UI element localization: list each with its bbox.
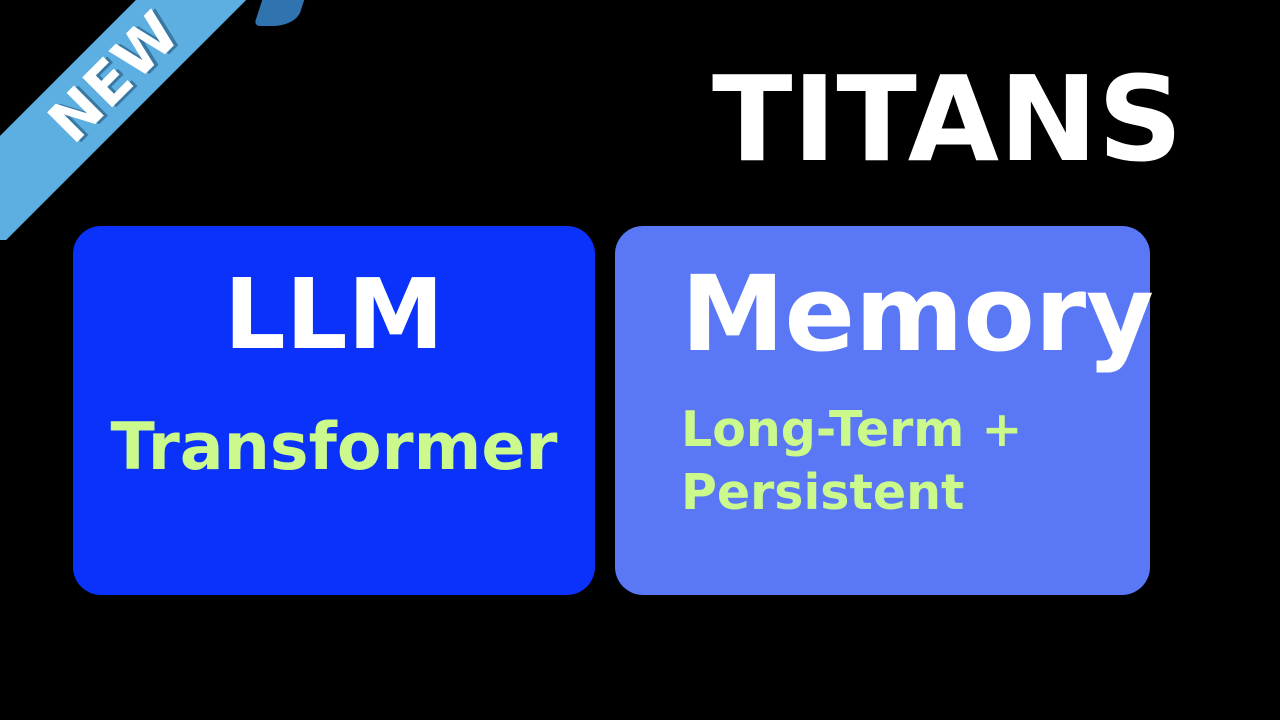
ribbon-band: NEW — [0, 0, 283, 240]
ribbon-fold-top-icon — [254, 0, 304, 26]
card-memory-subtitle-line-2: Persistent — [681, 462, 1022, 525]
card-llm-heading: LLM — [224, 264, 444, 366]
slide-canvas: NEW TITANS LLM Transformer Memory Long-T… — [0, 0, 1280, 720]
card-memory-subtitle: Long-Term + Persistent — [681, 399, 1022, 524]
ribbon-fold-left-icon — [0, 164, 26, 216]
page-title: TITANS — [712, 60, 1183, 178]
card-memory-subtitle-line-1: Long-Term + — [681, 399, 1022, 462]
card-llm: LLM Transformer — [73, 226, 595, 595]
ribbon-label: NEW — [39, 2, 190, 153]
card-llm-subtitle: Transformer — [111, 406, 558, 489]
card-memory: Memory Long-Term + Persistent — [615, 226, 1150, 595]
card-memory-heading: Memory — [681, 260, 1154, 369]
new-ribbon: NEW — [0, 0, 320, 240]
